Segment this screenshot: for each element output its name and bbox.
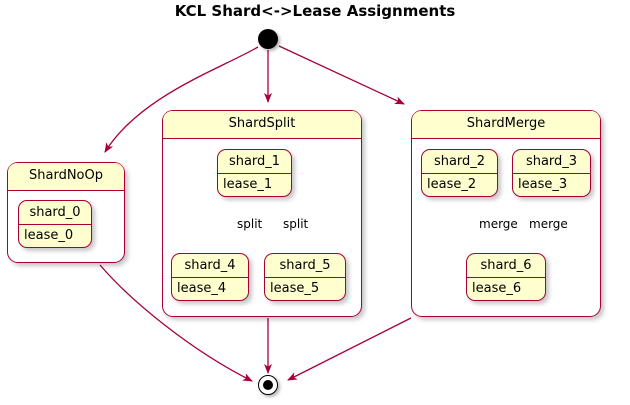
diagram-canvas: KCL Shard<->Lease Assignments (0, 0, 630, 405)
edge-label-merge-left: merge (479, 217, 518, 231)
edge-label-merge-right: merge (529, 217, 568, 231)
state-shard-0-lease: lease_0 (19, 225, 91, 247)
page-title: KCL Shard<->Lease Assignments (0, 2, 630, 20)
state-shardnoop-title: ShardNoOp (8, 163, 124, 191)
state-shard-3-lease: lease_3 (513, 174, 590, 196)
state-shard-1[interactable]: shard_1 lease_1 (217, 149, 292, 197)
edge-shardmerge-to-end (288, 318, 411, 380)
state-shard-1-title: shard_1 (218, 150, 291, 174)
edge-label-split-right: split (283, 217, 308, 231)
state-shard-5[interactable]: shard_5 lease_5 (264, 253, 346, 301)
state-shardsplit[interactable]: ShardSplit shard_1 lease_1 shard_4 lease… (162, 110, 362, 317)
state-shard-5-title: shard_5 (265, 254, 345, 278)
state-shardsplit-title: ShardSplit (163, 111, 361, 139)
state-shard-5-lease: lease_5 (265, 278, 345, 300)
state-shard-6-lease: lease_6 (467, 278, 545, 300)
state-shard-2-lease: lease_2 (422, 174, 497, 196)
state-shardmerge-title: ShardMerge (412, 111, 600, 139)
edge-label-split-left: split (237, 217, 262, 231)
end-state-inner-dot (263, 380, 273, 390)
state-shard-0[interactable]: shard_0 lease_0 (18, 200, 92, 248)
state-shard-2-title: shard_2 (422, 150, 497, 174)
end-state-node (258, 375, 278, 395)
state-shard-3[interactable]: shard_3 lease_3 (512, 149, 591, 197)
state-shard-2[interactable]: shard_2 lease_2 (421, 149, 498, 197)
state-shard-0-title: shard_0 (19, 201, 91, 225)
state-shardmerge[interactable]: ShardMerge shard_2 lease_2 shard_3 lease… (411, 110, 601, 317)
state-shard-3-title: shard_3 (513, 150, 590, 174)
state-shard-4-lease: lease_4 (172, 278, 248, 300)
state-shard-6-title: shard_6 (467, 254, 545, 278)
start-state-node (258, 29, 278, 49)
state-shard-4-title: shard_4 (172, 254, 248, 278)
state-shard-6[interactable]: shard_6 lease_6 (466, 253, 546, 301)
state-shard-1-lease: lease_1 (218, 174, 291, 196)
state-shard-4[interactable]: shard_4 lease_4 (171, 253, 249, 301)
state-shardnoop[interactable]: ShardNoOp shard_0 lease_0 (7, 162, 125, 263)
edge-start-to-shardmerge (279, 46, 404, 104)
